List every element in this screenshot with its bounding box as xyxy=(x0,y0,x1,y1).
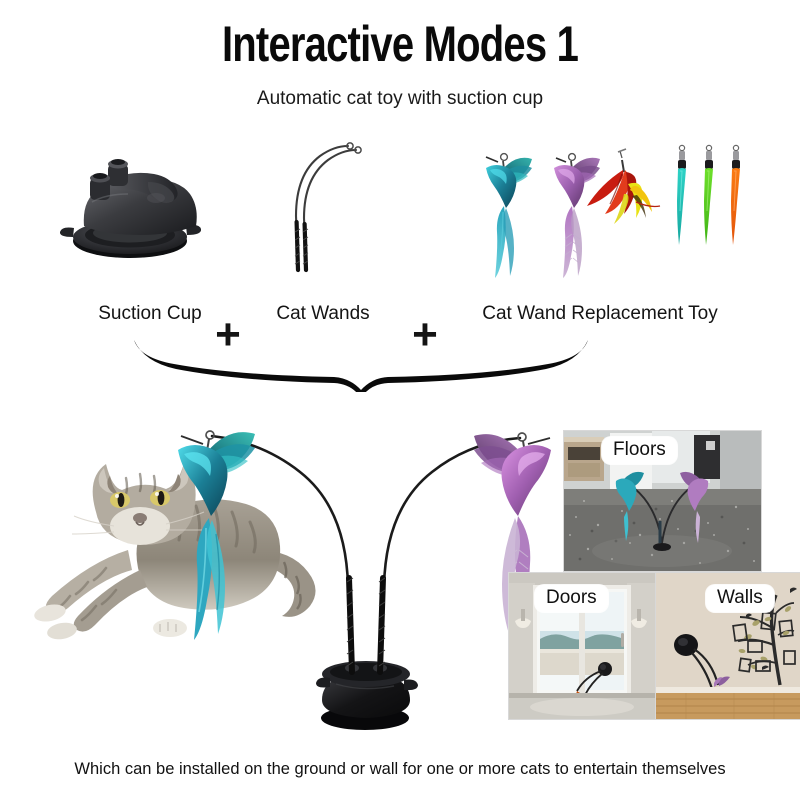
infographic-page: Interactive Modes 1 Automatic cat toy wi… xyxy=(0,0,800,800)
thumbnail-floors[interactable]: Floors xyxy=(563,430,762,572)
caption-suction-cup: Suction Cup xyxy=(60,303,240,325)
caption-cat-wands: Cat Wands xyxy=(248,303,398,325)
thumbnail-walls[interactable]: Walls xyxy=(655,572,800,720)
caption-cat-wand-replacement-toy: Cat Wand Replacement Toy xyxy=(440,303,760,325)
teal-tassel-toy xyxy=(677,145,686,245)
gray-tabby-cat xyxy=(33,463,316,641)
thumbnail-label-floors: Floors xyxy=(602,437,677,464)
teal-hummingbird-toy xyxy=(486,154,532,278)
thumbnail-doors[interactable]: Doors xyxy=(508,572,656,720)
cat-wand-icon xyxy=(272,138,382,273)
green-tassel-toy xyxy=(704,145,713,245)
downward-brace-icon xyxy=(130,336,600,392)
feather-toys-icon xyxy=(446,138,756,278)
page-subtitle: Automatic cat toy with suction cup xyxy=(0,88,800,110)
page-title: Interactive Modes 1 xyxy=(80,18,720,70)
thumbnail-label-walls: Walls xyxy=(706,585,774,612)
purple-hummingbird-toy xyxy=(554,154,600,278)
suction-cup-icon xyxy=(52,140,212,270)
orange-tassel-toy xyxy=(731,145,740,245)
component-captions: Suction Cup Cat Wands Cat Wand Replaceme… xyxy=(0,303,800,333)
product-component-row: + + xyxy=(0,130,800,330)
footer-caption: Which can be installed on the ground or … xyxy=(0,760,800,779)
assembled-toy-base xyxy=(316,661,418,730)
thumbnail-label-doors: Doors xyxy=(535,585,608,612)
